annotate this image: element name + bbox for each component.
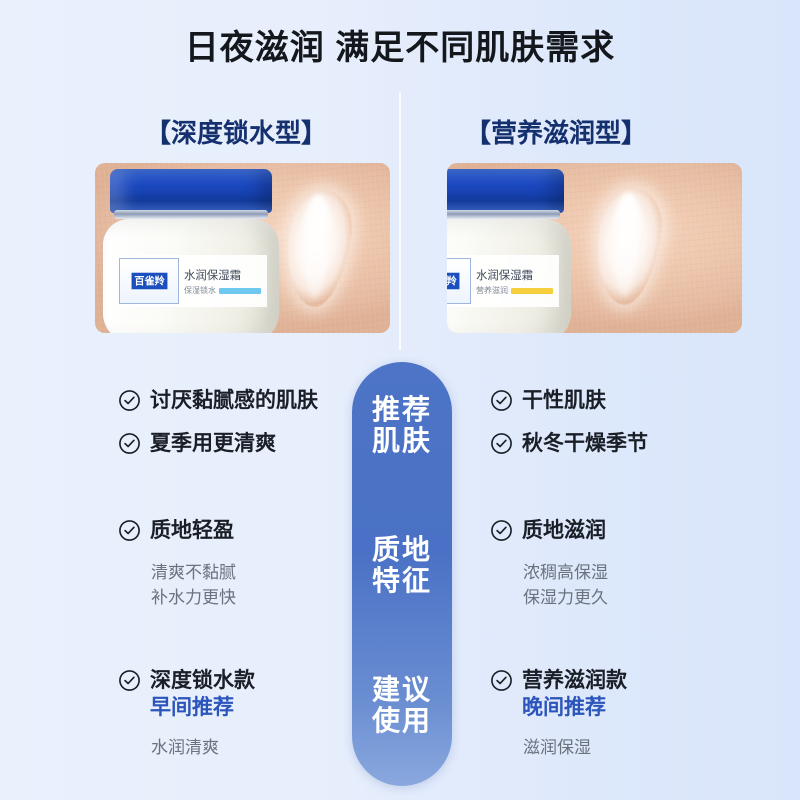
sub-text: 清爽不黏腻	[151, 561, 363, 586]
capsule-label-usage: 建议使用	[352, 674, 452, 737]
product-jar-right: 百雀羚 水润保湿霜 营养滋润	[447, 169, 571, 333]
jar-body-left: 百雀羚 水润保湿霜 保湿锁水	[103, 219, 279, 333]
product-name-left: 水润保湿霜	[184, 266, 257, 282]
sub-text-block: 水润清爽	[151, 736, 363, 761]
list-item: 讨厌黏腻感的肌肤	[118, 388, 363, 417]
jar-label-right: 百雀羚 水润保湿霜 营养滋润	[447, 255, 559, 307]
sub-text: 水润清爽	[151, 736, 363, 761]
variant-accent-bar-right	[511, 288, 553, 294]
list-item: 夏季用更清爽	[118, 431, 363, 460]
brand-name-right: 百雀羚	[447, 273, 459, 290]
sub-text: 滋润保湿	[523, 736, 735, 761]
bullet-accent-text: 晚间推荐	[522, 695, 627, 721]
list-item: 深度锁水款 早间推荐	[118, 668, 363, 722]
bullet-text: 营养滋润款	[522, 668, 627, 694]
capsule-label-recommended-skin: 推荐肌肤	[352, 394, 452, 457]
check-circle-icon	[118, 389, 141, 417]
bullet-text: 讨厌黏腻感的肌肤	[150, 388, 318, 414]
infographic-page: 日夜滋润 满足不同肌肤需求 【深度锁水型】 【营养滋润型】 百雀羚 水润保湿霜 …	[0, 0, 800, 800]
row-texture-left: 质地轻盈 清爽不黏腻 补水力更快	[118, 518, 363, 610]
bullet-text: 干性肌肤	[522, 388, 606, 414]
capsule-label-texture: 质地特征	[352, 534, 452, 597]
check-circle-icon	[118, 669, 141, 697]
variant-accent-bar-left	[219, 288, 261, 294]
jar-lid-left	[110, 169, 272, 213]
jar-label-left: 百雀羚 水润保湿霜 保湿锁水	[115, 255, 267, 307]
row-texture-right: 质地滋润 浓稠高保湿 保湿力更久	[490, 518, 735, 610]
list-item: 干性肌肤	[490, 388, 735, 417]
bullet-accent-text: 早间推荐	[150, 695, 255, 721]
sub-text: 保湿力更久	[523, 586, 735, 611]
row-usage-right: 营养滋润款 晚间推荐 滋润保湿	[490, 668, 735, 760]
list-item: 秋冬干燥季节	[490, 431, 735, 460]
brand-name-left: 百雀羚	[131, 273, 167, 290]
bullet-text: 质地滋润	[522, 518, 606, 544]
list-item: 质地轻盈	[118, 518, 363, 547]
product-photo-right: 百雀羚 水润保湿霜 营养滋润	[447, 163, 742, 333]
row-recommended-skin-right: 干性肌肤 秋冬干燥季节	[490, 388, 735, 474]
sub-text-block: 清爽不黏腻 补水力更快	[151, 561, 363, 610]
sub-text: 补水力更快	[151, 586, 363, 611]
check-circle-icon	[118, 519, 141, 547]
section-header-left: 【深度锁水型】	[145, 113, 327, 150]
product-photo-left: 百雀羚 水润保湿霜 保湿锁水	[95, 163, 390, 333]
brand-logo-right: 百雀羚	[447, 258, 471, 304]
jar-lid-right	[447, 169, 564, 213]
center-category-capsule: 推荐肌肤 质地特征 建议使用	[352, 362, 452, 786]
section-header-right: 【营养滋润型】	[465, 113, 647, 150]
check-circle-icon	[118, 432, 141, 460]
bullet-text: 秋冬干燥季节	[522, 431, 648, 457]
jar-body-right: 百雀羚 水润保湿霜 营养滋润	[447, 219, 571, 333]
check-circle-icon	[490, 519, 513, 547]
bullet-text: 质地轻盈	[150, 518, 234, 544]
list-item: 营养滋润款 晚间推荐	[490, 668, 735, 722]
bullet-text: 深度锁水款	[150, 668, 255, 694]
row-recommended-skin-left: 讨厌黏腻感的肌肤 夏季用更清爽	[118, 388, 363, 474]
brand-logo-left: 百雀羚	[119, 258, 179, 304]
vertical-divider	[399, 92, 401, 350]
variant-name-right: 营养滋润	[476, 285, 508, 296]
row-usage-left: 深度锁水款 早间推荐 水润清爽	[118, 668, 363, 760]
sub-text: 浓稠高保湿	[523, 561, 735, 586]
sub-text-block: 滋润保湿	[523, 736, 735, 761]
page-title: 日夜滋润 满足不同肌肤需求	[0, 20, 800, 69]
product-name-right: 水润保湿霜	[476, 266, 549, 282]
check-circle-icon	[490, 669, 513, 697]
sub-text-block: 浓稠高保湿 保湿力更久	[523, 561, 735, 610]
list-item: 质地滋润	[490, 518, 735, 547]
check-circle-icon	[490, 432, 513, 460]
check-circle-icon	[490, 389, 513, 417]
variant-name-left: 保湿锁水	[184, 285, 216, 296]
product-jar-left: 百雀羚 水润保湿霜 保湿锁水	[103, 169, 279, 333]
bullet-text: 夏季用更清爽	[150, 431, 276, 457]
